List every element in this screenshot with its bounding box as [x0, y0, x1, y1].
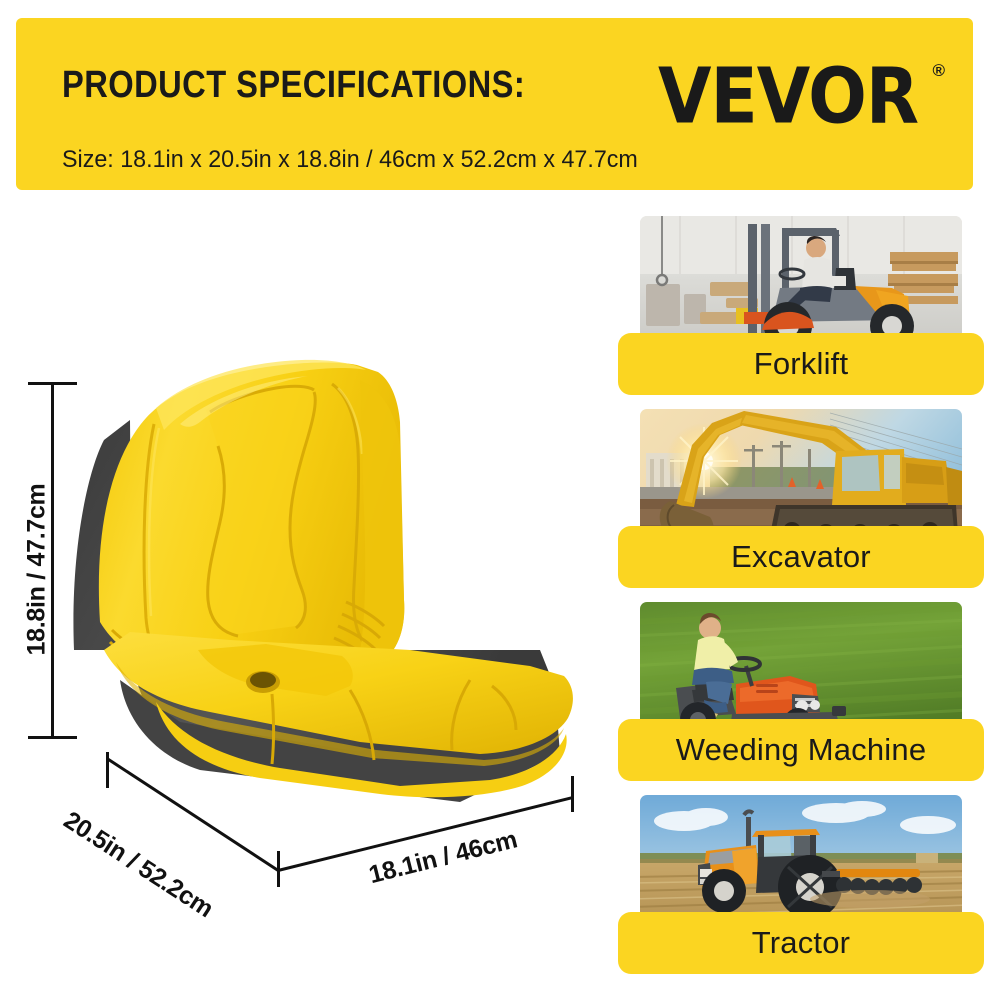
depth-dimension-label: 20.5in / 52.2cm — [58, 806, 218, 924]
tractor-seat-image — [60, 350, 590, 820]
application-card-tractor[interactable]: Tractor — [618, 795, 984, 981]
height-dimension-bottom-cap — [28, 736, 77, 739]
brand-wordmark: VEVOR — [658, 58, 918, 134]
application-card-weeding-machine[interactable]: Weeding Machine — [618, 602, 984, 788]
application-card-forklift[interactable]: Forklift — [618, 216, 984, 402]
vevor-brand-logo: VEVOR ® — [658, 58, 945, 130]
width-dimension-end-tick — [571, 776, 574, 812]
card-label-forklift: Forklift — [618, 333, 984, 395]
height-dimension-label: 18.8in / 47.7cm — [23, 455, 52, 685]
application-card-excavator[interactable]: Excavator — [618, 409, 984, 595]
card-label-tractor: Tractor — [618, 912, 984, 974]
card-label-weeding-machine: Weeding Machine — [618, 719, 984, 781]
product-specification-page: PRODUCT SPECIFICATIONS: Size: 18.1in x 2… — [0, 0, 1000, 1000]
registered-trademark-icon: ® — [932, 62, 945, 79]
width-dimension-label: 18.1in / 46cm — [366, 825, 520, 890]
application-card-list: Forklift — [618, 216, 984, 988]
card-label-excavator: Excavator — [618, 526, 984, 588]
product-image-stage: 18.8in / 47.7cm 20.5in / 52.2cm 18.1in /… — [0, 0, 610, 800]
